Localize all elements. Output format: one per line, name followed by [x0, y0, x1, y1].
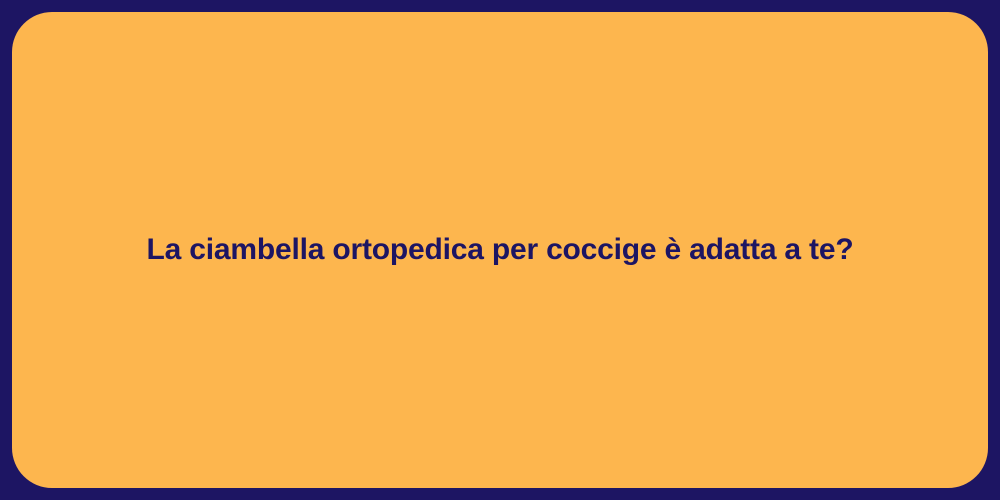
banner-headline: La ciambella ortopedica per coccige è ad…	[107, 231, 894, 269]
banner-panel: La ciambella ortopedica per coccige è ad…	[12, 12, 988, 488]
banner-frame: La ciambella ortopedica per coccige è ad…	[0, 0, 1000, 500]
